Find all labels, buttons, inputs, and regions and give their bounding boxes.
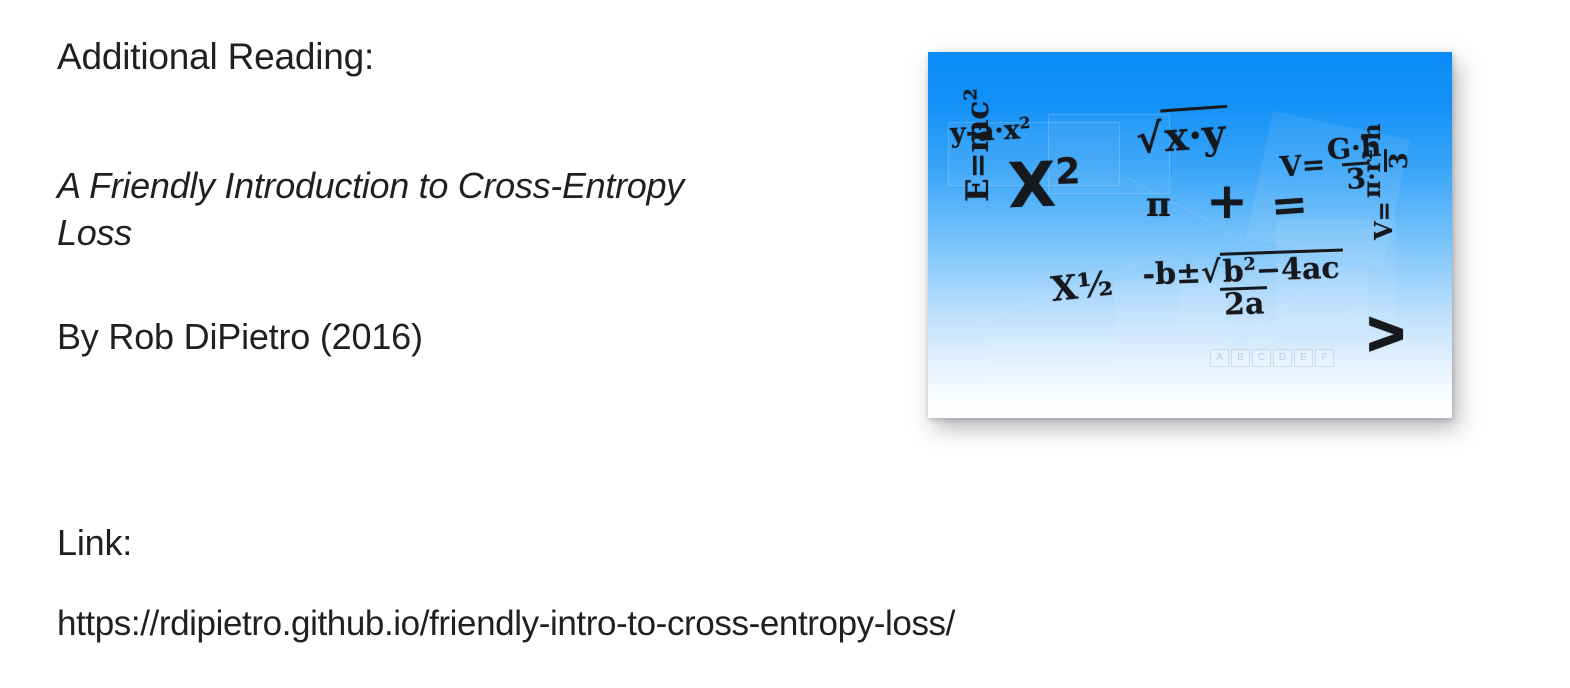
watermark-keycaps: A B C D E F	[1210, 349, 1334, 367]
formula-plus: +	[1206, 172, 1248, 230]
formula-exponent: 2	[1019, 113, 1031, 133]
keycap: C	[1252, 349, 1271, 367]
formula-text: X	[1007, 148, 1057, 223]
formula-lhs: V=	[1369, 201, 1398, 240]
keycap: E	[1294, 349, 1313, 367]
formula-text: E=mc	[960, 101, 996, 202]
formula-lhs: V=	[1279, 148, 1326, 184]
keycap: D	[1273, 349, 1292, 367]
fraction: -b±√b2−4ac 2a	[1139, 248, 1348, 323]
link-label: Link:	[57, 522, 132, 564]
formula-v-glyph: V	[1360, 316, 1414, 352]
formula-exponent: 2	[1055, 151, 1081, 193]
fraction: π·r²·h3	[1360, 120, 1411, 201]
quad-radicand-base: b	[1222, 254, 1244, 290]
formula-e-mc2: E=mc2	[960, 88, 996, 202]
formula-quadratic: -b±√b2−4ac 2a	[1139, 248, 1348, 323]
formula-x-half: X½	[1049, 264, 1115, 310]
quad-radicand-tail: −4ac	[1255, 251, 1340, 289]
keycap: B	[1231, 349, 1250, 367]
keycap: A	[1210, 349, 1229, 367]
formula-cylinder-volume: V=π·r²·h3	[1360, 120, 1411, 240]
formula-pi: π	[1146, 185, 1171, 225]
fraction-denominator: 2a	[1220, 286, 1267, 321]
math-illustration: A B C D E F y-a·x2 X2 √x·y π + = V=G·h3	[928, 52, 1452, 418]
formula-sqrt-xy: √x·y	[1134, 105, 1231, 163]
math-illustration-canvas: A B C D E F y-a·x2 X2 √x·y π + = V=G·h3	[928, 52, 1452, 418]
watermark-panel	[986, 342, 1118, 390]
article-title: A Friendly Introduction to Cross-Entropy…	[57, 163, 757, 257]
quad-radicand: b2−4ac	[1220, 249, 1344, 288]
quad-lead: -b±	[1142, 255, 1202, 292]
formula-exponent: 2	[961, 88, 982, 101]
article-byline: By Rob DiPietro (2016)	[57, 316, 423, 358]
keycap: F	[1315, 349, 1334, 367]
page-title: Additional Reading:	[57, 34, 817, 79]
fraction-numerator: π·r²·h	[1360, 120, 1384, 201]
text-column: Additional Reading:	[57, 34, 817, 79]
slide-canvas: Additional Reading: A Friendly Introduct…	[0, 0, 1570, 688]
fraction-denominator: 3	[1384, 149, 1411, 172]
fraction-numerator: -b±√b2−4ac	[1139, 248, 1347, 290]
formula-radicand: x·y	[1161, 105, 1231, 162]
formula-x-squared: X2	[1007, 147, 1082, 222]
article-link-url[interactable]: https://rdipietro.github.io/friendly-int…	[57, 604, 955, 644]
